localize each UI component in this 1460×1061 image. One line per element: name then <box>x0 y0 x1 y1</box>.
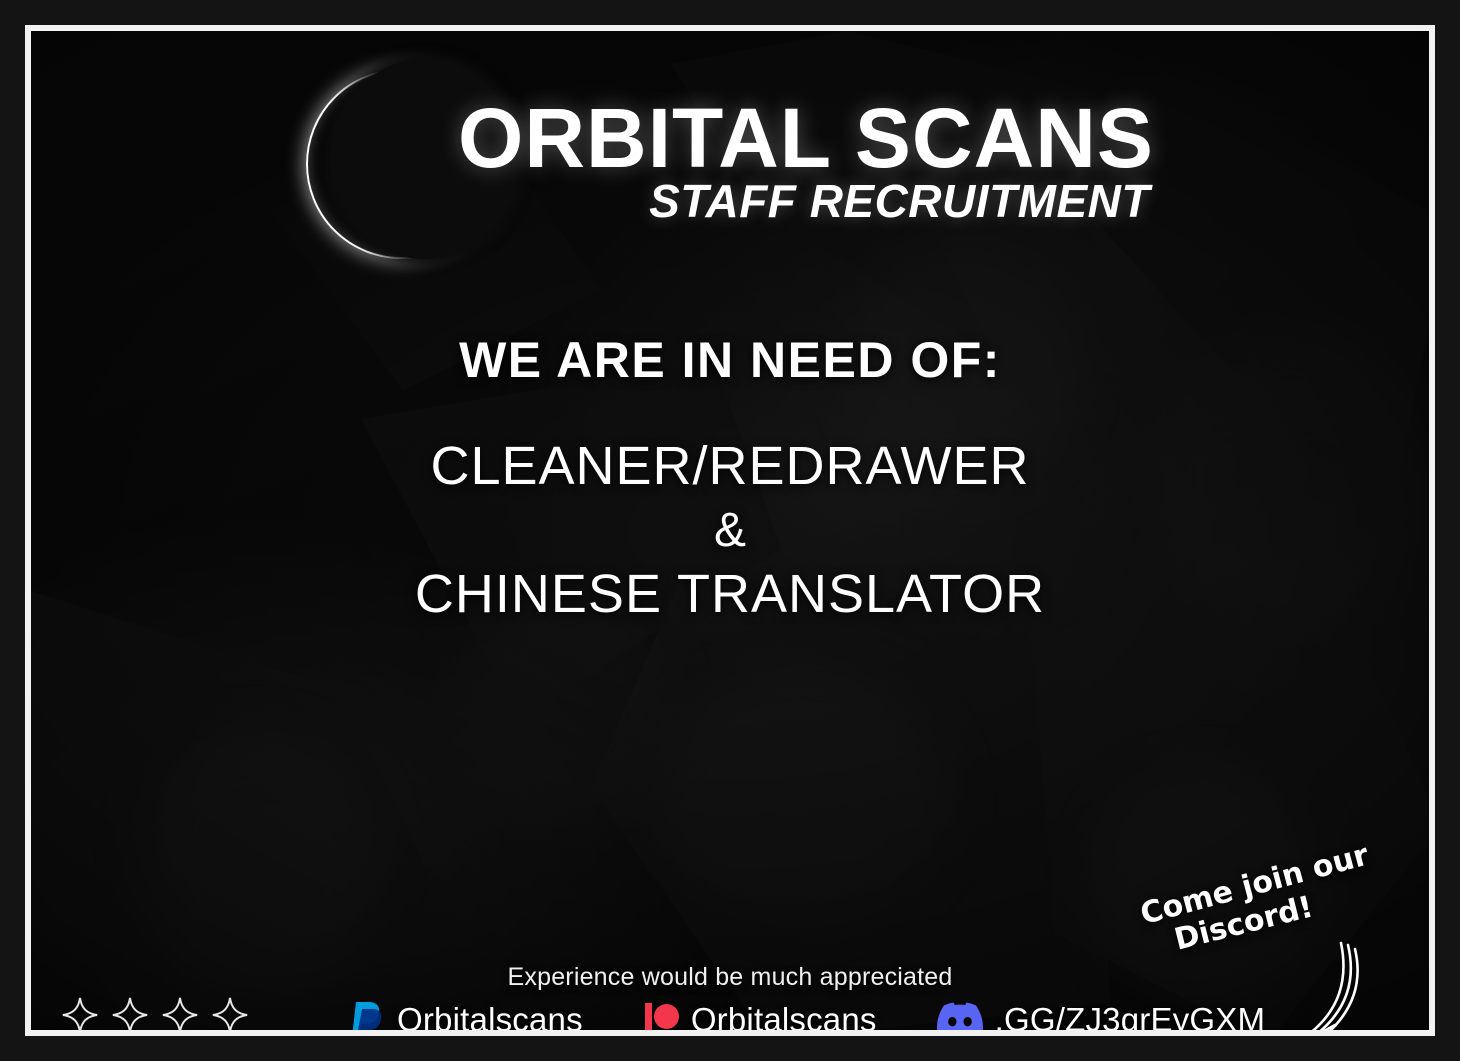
role-item: CHINESE TRANSLATOR <box>31 562 1429 628</box>
brand-title: ORBITAL SCANS <box>458 100 1154 177</box>
poster-content: ORBITAL SCANS STAFF RECRUITMENT WE ARE I… <box>31 31 1429 1030</box>
sparkle-decorations <box>61 996 249 1034</box>
sparkle-icon <box>61 996 99 1034</box>
discord-link[interactable]: .GG/ZJ3grEyGXM <box>937 1001 1266 1036</box>
social-links: Orbitalscans Orbitalscans .GG/ZJ3 <box>351 999 1265 1036</box>
poster-frame: ORBITAL SCANS STAFF RECRUITMENT WE ARE I… <box>25 25 1435 1036</box>
logo-header: ORBITAL SCANS STAFF RECRUITMENT <box>31 69 1429 259</box>
patreon-link[interactable]: Orbitalscans <box>643 1000 877 1036</box>
logo-wordmark: ORBITAL SCANS STAFF RECRUITMENT <box>458 100 1154 227</box>
paypal-label: Orbitalscans <box>397 1001 583 1036</box>
paypal-icon <box>351 999 385 1036</box>
headline: WE ARE IN NEED OF: <box>31 331 1429 389</box>
paypal-link[interactable]: Orbitalscans <box>351 999 583 1036</box>
role-separator: & <box>31 500 1429 562</box>
sparkle-icon <box>111 996 149 1034</box>
footer-bar: Orbitalscans Orbitalscans .GG/ZJ3 <box>31 999 1429 1036</box>
discord-label: .GG/ZJ3grEyGXM <box>995 1001 1266 1036</box>
sparkle-icon <box>211 996 249 1034</box>
recruitment-poster: ORBITAL SCANS STAFF RECRUITMENT WE ARE I… <box>0 0 1460 1061</box>
patreon-label: Orbitalscans <box>691 1001 877 1036</box>
discord-icon <box>937 1002 983 1036</box>
role-item: CLEANER/REDRAWER <box>31 434 1429 500</box>
patreon-icon <box>643 1000 679 1036</box>
sparkle-icon <box>161 996 199 1034</box>
roles-list: CLEANER/REDRAWER & CHINESE TRANSLATOR <box>31 434 1429 628</box>
